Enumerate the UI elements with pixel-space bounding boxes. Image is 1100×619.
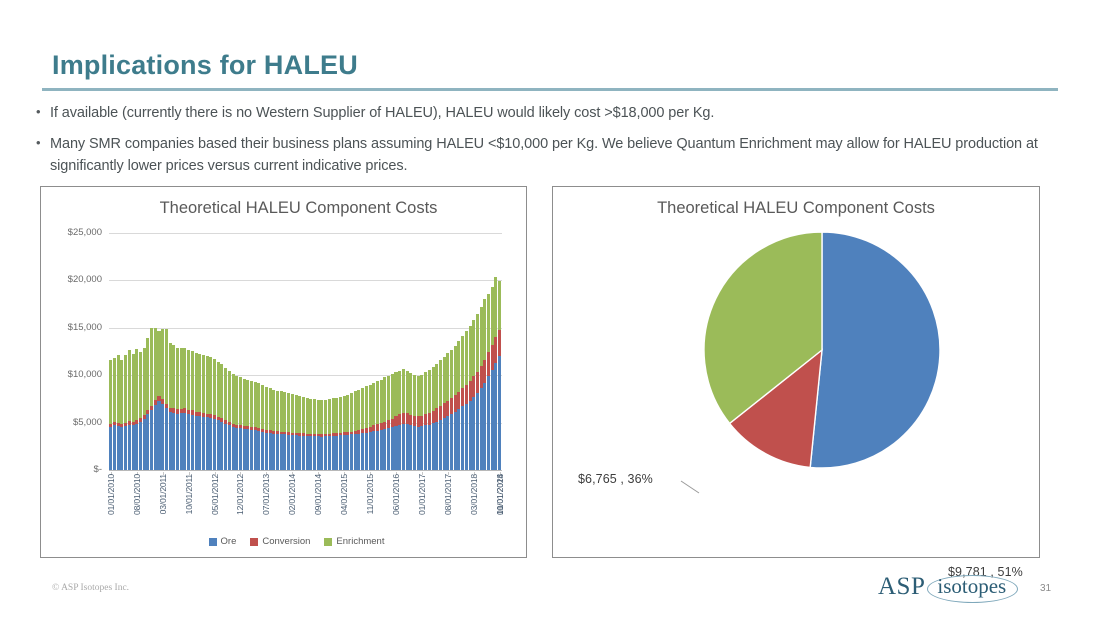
bar-chart-bar (420, 375, 423, 470)
bar-chart-bar (487, 294, 490, 470)
bar-segment-enr (272, 390, 275, 431)
y-axis-tick-label: $10,000 (38, 369, 102, 380)
bar-segment-ore (320, 437, 323, 470)
bar-chart-bar (265, 387, 268, 470)
bar-segment-con (428, 413, 431, 425)
bar-chart-bar (169, 343, 172, 470)
bar-segment-ore (246, 429, 249, 470)
bar-segment-ore (195, 416, 198, 470)
bar-chart-bar (409, 373, 412, 470)
bar-segment-enr (132, 354, 135, 421)
bar-segment-ore (161, 404, 164, 470)
bar-chart-bar (157, 331, 160, 470)
bar-chart-plot-area: $-$5,000$10,000$15,000$20,000$25,000 (109, 233, 502, 470)
bar-chart-bar (424, 372, 427, 470)
bullet-marker: • (36, 102, 50, 121)
bar-segment-ore (250, 430, 253, 470)
bar-chart-bar (432, 367, 435, 470)
bar-segment-ore (461, 406, 464, 470)
bar-segment-enr (202, 355, 205, 413)
bar-segment-ore (206, 417, 209, 470)
bar-segment-ore (309, 436, 312, 470)
bar-segment-con (491, 345, 494, 370)
slide-canvas: Implications for HALEU • If available (c… (0, 0, 1100, 619)
bar-chart-bar (139, 352, 142, 470)
bar-segment-con (461, 388, 464, 406)
bar-segment-ore (406, 424, 409, 470)
bar-segment-ore (254, 430, 257, 470)
bar-segment-con (435, 408, 438, 421)
legend-swatch-icon (250, 538, 258, 546)
bar-segment-ore (428, 425, 431, 471)
bar-chart-bar (295, 395, 298, 470)
y-axis-tick-label: $5,000 (38, 417, 102, 428)
bar-segment-enr (235, 376, 238, 425)
bar-segment-con (383, 422, 386, 429)
bar-segment-con (432, 411, 435, 424)
bar-segment-enr (220, 364, 223, 418)
bar-segment-enr (146, 338, 149, 410)
bar-segment-enr (198, 354, 201, 412)
bar-chart-bar (187, 350, 190, 470)
bar-segment-ore (132, 425, 135, 470)
bar-segment-enr (332, 398, 335, 433)
bar-chart-bar (446, 353, 449, 470)
bar-chart-bar (472, 320, 475, 470)
bar-segment-enr (406, 371, 409, 413)
x-tick-slot: 10/01/201801/01/2024 (498, 472, 502, 522)
bar-segment-ore (191, 415, 194, 470)
bar-segment-ore (213, 419, 216, 470)
bar-segment-ore (339, 435, 342, 470)
bar-segment-enr (239, 377, 242, 425)
bar-segment-enr (328, 399, 331, 434)
bar-segment-ore (357, 434, 360, 470)
bar-segment-ore (235, 428, 238, 470)
bar-segment-enr (369, 385, 372, 427)
bar-segment-enr (143, 348, 146, 415)
bar-segment-ore (354, 434, 357, 470)
bar-segment-enr (117, 355, 120, 423)
bar-segment-ore (120, 427, 123, 470)
bar-chart-bar (269, 388, 272, 470)
bar-chart-bar (217, 362, 220, 470)
bar-segment-ore (383, 429, 386, 470)
bar-segment-ore (446, 416, 449, 470)
bar-chart-bar (383, 377, 386, 470)
bar-chart-bar (306, 398, 309, 470)
bar-segment-con (391, 419, 394, 428)
bar-segment-con (465, 385, 468, 404)
bar-segment-enr (280, 391, 283, 431)
bar-segment-ore (146, 414, 149, 470)
bar-segment-ore (457, 409, 460, 470)
bar-chart-bar (450, 350, 453, 470)
bar-segment-ore (424, 425, 427, 470)
bar-chart-bar (476, 314, 479, 470)
bar-segment-ore (232, 427, 235, 470)
logo-isotopes-text: isotopes (937, 574, 1006, 598)
legend-item-conversion[interactable]: Conversion (250, 536, 310, 547)
bar-segment-ore (157, 401, 160, 470)
bar-segment-enr (243, 379, 246, 426)
bar-segment-enr (261, 385, 264, 429)
bar-segment-enr (354, 391, 357, 430)
bar-segment-enr (157, 331, 160, 396)
bar-chart-bar (402, 369, 405, 470)
bar-segment-con (413, 416, 416, 427)
bar-segment-ore (269, 433, 272, 470)
bar-segment-enr (439, 360, 442, 406)
pie-chart-area: $9,781 , 51% $6,765 , 36% $2,411 , 13% (553, 187, 1039, 557)
bar-segment-ore (165, 408, 168, 470)
bar-segment-ore (180, 413, 183, 470)
bar-segment-enr (180, 348, 183, 409)
bar-segment-ore (172, 413, 175, 470)
bar-segment-enr (491, 287, 494, 345)
bar-segment-enr (343, 396, 346, 433)
bar-segment-ore (494, 363, 497, 470)
bar-segment-ore (328, 436, 331, 470)
bar-segment-enr (365, 386, 368, 428)
bar-chart-bar (161, 329, 164, 470)
y-axis-tick-label: $15,000 (38, 322, 102, 333)
bar-chart-bar (461, 336, 464, 470)
bar-chart-bar (398, 371, 401, 470)
bar-segment-enr (176, 348, 179, 410)
bar-chart-bar (202, 355, 205, 470)
legend-item-ore[interactable]: Ore (209, 536, 237, 547)
bar-segment-ore (150, 410, 153, 470)
bar-segment-ore (469, 401, 472, 470)
bar-chart-bar (332, 398, 335, 470)
bar-chart-bar (235, 376, 238, 470)
bar-segment-ore (420, 426, 423, 470)
page-title: Implications for HALEU (52, 50, 358, 81)
bar-segment-ore (287, 435, 290, 470)
bar-chart-bar (287, 393, 290, 470)
bar-chart-bar (354, 391, 357, 470)
bar-segment-enr (454, 346, 457, 395)
bar-chart-bar (213, 359, 216, 470)
bar-segment-ore (295, 435, 298, 470)
bar-segment-enr (276, 391, 279, 432)
bar-segment-enr (250, 381, 253, 427)
bar-chart-bar (198, 354, 201, 470)
legend-swatch-icon (209, 538, 217, 546)
bar-chart-bar (209, 357, 212, 470)
bar-chart-bar (483, 299, 486, 470)
bar-segment-ore (313, 436, 316, 470)
bar-chart-bar (172, 345, 175, 470)
bar-segment-ore (128, 425, 131, 471)
bar-segment-ore (335, 436, 338, 470)
bar-segment-enr (109, 360, 112, 424)
bar-segment-ore (391, 427, 394, 470)
bar-chart-bar (261, 385, 264, 470)
bar-segment-ore (402, 424, 405, 470)
bar-segment-enr (494, 277, 497, 337)
bar-segment-enr (432, 367, 435, 411)
bar-segment-ore (465, 404, 468, 470)
bar-chart-bar (372, 383, 375, 470)
bar-segment-ore (483, 383, 486, 470)
bar-chart-bar (183, 348, 186, 470)
bar-segment-enr (195, 353, 198, 412)
bar-chart-bar (387, 376, 390, 470)
bar-segment-enr (191, 351, 194, 411)
legend-label: Ore (221, 536, 237, 547)
bar-segment-enr (469, 326, 472, 381)
bar-segment-con (494, 337, 497, 363)
bar-segment-ore (224, 424, 227, 470)
bar-segment-ore (450, 414, 453, 470)
bar-chart-bar (480, 307, 483, 470)
bar-segment-ore (387, 428, 390, 470)
bar-segment-ore (365, 433, 368, 470)
bar-chart-bar (254, 382, 257, 470)
bar-segment-con (387, 420, 390, 428)
bar-segment-enr (335, 398, 338, 434)
bar-segment-enr (487, 294, 490, 353)
bar-segment-enr (324, 400, 327, 434)
bar-segment-ore (324, 436, 327, 470)
bar-chart-bar (232, 374, 235, 470)
bar-segment-ore (376, 431, 379, 470)
bar-segment-enr (287, 393, 290, 432)
bar-segment-enr (183, 348, 186, 409)
y-axis-tick-label: $20,000 (38, 274, 102, 285)
bar-segment-ore (454, 412, 457, 470)
bar-chart-bar (180, 348, 183, 470)
bar-chart-bar (135, 349, 138, 470)
bar-chart-bar (428, 370, 431, 470)
bar-segment-enr (269, 388, 272, 430)
bar-segment-ore (276, 434, 279, 470)
bar-segment-con (476, 372, 479, 393)
bar-segment-ore (372, 431, 375, 470)
bar-chart-bar (361, 388, 364, 470)
bar-chart-bar (313, 399, 316, 470)
bar-segment-ore (298, 436, 301, 470)
bar-segment-enr (120, 360, 123, 424)
bar-segment-ore (169, 412, 172, 470)
bar-segment-ore (350, 434, 353, 470)
bar-segment-enr (187, 350, 190, 410)
bar-segment-enr (139, 352, 142, 418)
bar-segment-con (394, 416, 397, 426)
bar-chart-legend: OreConversionEnrichment (41, 536, 526, 547)
bar-chart-bar (435, 364, 438, 470)
bar-chart-bar (191, 351, 194, 470)
bar-segment-ore (257, 431, 260, 470)
bar-chart-title: Theoretical HALEU Component Costs (41, 199, 526, 218)
bar-chart-bar (298, 396, 301, 470)
bar-segment-ore (183, 413, 186, 470)
bar-segment-ore (265, 433, 268, 470)
bar-chart-bar (391, 374, 394, 470)
bar-chart-bar (257, 383, 260, 470)
bar-segment-ore (109, 427, 112, 470)
bar-segment-enr (320, 400, 323, 434)
bar-segment-enr (232, 374, 235, 424)
bar-segment-enr (420, 375, 423, 416)
bar-segment-ore (283, 434, 286, 470)
bar-segment-enr (435, 364, 438, 409)
bar-segment-ore (124, 426, 127, 470)
bar-chart-bar (132, 354, 135, 470)
pie-slice-ore (810, 232, 940, 468)
bar-chart-bar (117, 355, 120, 470)
bar-segment-enr (398, 371, 401, 415)
bar-segment-enr (372, 383, 375, 426)
bar-chart-bar (165, 329, 168, 470)
bar-segment-ore (476, 393, 479, 470)
bar-segment-con (483, 360, 486, 383)
bar-chart-bar (413, 375, 416, 470)
legend-label: Enrichment (336, 536, 384, 547)
bullet-marker: • (36, 133, 50, 152)
bar-segment-enr (339, 397, 342, 433)
bar-segment-enr (391, 374, 394, 418)
bar-segment-con (402, 413, 405, 424)
bar-chart-bar (320, 400, 323, 470)
bar-segment-con (457, 392, 460, 410)
bar-segment-ore (139, 422, 142, 470)
bar-chart-bar (417, 376, 420, 470)
pie-chart-panel[interactable]: Theoretical HALEU Component Costs $9,781… (552, 186, 1040, 558)
bar-segment-con (424, 414, 427, 425)
bar-chart-bar (276, 391, 279, 470)
footer-copyright: © ASP Isotopes Inc. (52, 583, 129, 593)
legend-item-enrichment[interactable]: Enrichment (324, 536, 384, 547)
bar-segment-ore (487, 376, 490, 470)
bar-segment-enr (317, 400, 320, 434)
bar-chart-bar (394, 372, 397, 470)
bar-segment-ore (443, 418, 446, 470)
pie-chart-graphic (702, 230, 942, 470)
bar-chart-bar (457, 341, 460, 470)
bar-segment-con (380, 423, 383, 430)
bar-segment-enr (306, 398, 309, 434)
bar-segment-enr (413, 375, 416, 416)
bar-segment-ore (154, 405, 157, 470)
bar-chart-bar (406, 371, 409, 470)
bar-chart-bar (228, 371, 231, 470)
bar-chart-bar (243, 379, 246, 470)
bar-segment-enr (209, 357, 212, 414)
bar-chart-bar (498, 281, 501, 470)
bar-segment-ore (439, 420, 442, 470)
bar-segment-enr (228, 371, 231, 422)
bar-chart-bar (220, 364, 223, 470)
bar-segment-ore (413, 426, 416, 470)
bar-segment-enr (154, 328, 157, 400)
bar-segment-enr (169, 343, 172, 408)
bar-segment-enr (350, 393, 353, 431)
bar-chart-bar (328, 399, 331, 470)
bar-segment-ore (302, 436, 305, 470)
bar-segment-enr (309, 399, 312, 434)
bar-segment-enr (357, 390, 360, 430)
bar-segment-enr (113, 358, 116, 422)
bar-segment-ore (343, 435, 346, 470)
bullet-item-1: • If available (currently there is no We… (36, 102, 1046, 124)
bar-chart-bar (120, 360, 123, 470)
bar-segment-ore (187, 414, 190, 470)
bar-segment-ore (202, 417, 205, 470)
bar-segment-enr (257, 383, 260, 428)
bar-segment-enr (135, 349, 138, 420)
bar-chart-bar (380, 380, 383, 470)
bar-segment-ore (306, 436, 309, 470)
bar-chart-bar (465, 331, 468, 470)
legend-label: Conversion (262, 536, 310, 547)
bar-segment-enr (254, 382, 257, 427)
bar-chart-bar (206, 356, 209, 470)
y-axis-tick-label: $25,000 (38, 227, 102, 238)
bar-segment-enr (387, 376, 390, 421)
bar-segment-ore (135, 424, 138, 470)
bar-segment-enr (313, 399, 316, 434)
bar-segment-ore (209, 418, 212, 470)
bar-segment-enr (394, 372, 397, 416)
bar-chart-bar (146, 338, 149, 470)
page-number: 31 (1040, 583, 1051, 594)
bar-segment-enr (150, 328, 153, 406)
bar-segment-ore (380, 430, 383, 470)
bar-segment-ore (432, 423, 435, 470)
bar-chart-bar (494, 277, 497, 470)
bar-chart-x-tick-labels: 01/01/201008/01/201003/01/201110/01/2011… (109, 472, 502, 522)
bar-chart-bar (346, 395, 349, 470)
bar-segment-con (454, 395, 457, 412)
bar-chart-bar (309, 399, 312, 470)
bar-chart-bar (343, 396, 346, 470)
bar-segment-enr (424, 372, 427, 414)
bar-chart-bar (280, 391, 283, 470)
bar-segment-enr (446, 353, 449, 400)
bar-segment-ore (239, 428, 242, 470)
bar-segment-enr (472, 320, 475, 376)
bar-chart-bar (491, 287, 494, 470)
bar-chart-bar (246, 380, 249, 470)
bar-segment-ore (243, 429, 246, 470)
bar-chart-panel[interactable]: Theoretical HALEU Component Costs $-$5,0… (40, 186, 527, 558)
bar-segment-con (480, 366, 483, 388)
bar-segment-ore (198, 416, 201, 470)
bar-segment-enr (283, 392, 286, 432)
bar-chart-bar (224, 368, 227, 471)
bar-segment-ore (398, 425, 401, 471)
bar-segment-con (409, 415, 412, 426)
bar-segment-ore (435, 422, 438, 470)
bar-chart-bar (239, 377, 242, 470)
bullet-item-2: • Many SMR companies based their busines… (36, 133, 1046, 177)
bar-chart-bar (113, 358, 116, 470)
bar-chart-bar (357, 390, 360, 470)
bar-segment-enr (480, 307, 483, 366)
bar-segment-ore (394, 426, 397, 470)
bar-segment-enr (443, 357, 446, 403)
bar-chart-bar (365, 386, 368, 470)
bar-segment-ore (143, 419, 146, 470)
bar-chart-bar (283, 392, 286, 470)
bar-segment-ore (346, 435, 349, 470)
bar-chart-bar (150, 328, 153, 470)
bullet-text: Many SMR companies based their business … (50, 133, 1046, 177)
pie-label-enrichment: $6,765 , 36% (578, 472, 653, 486)
